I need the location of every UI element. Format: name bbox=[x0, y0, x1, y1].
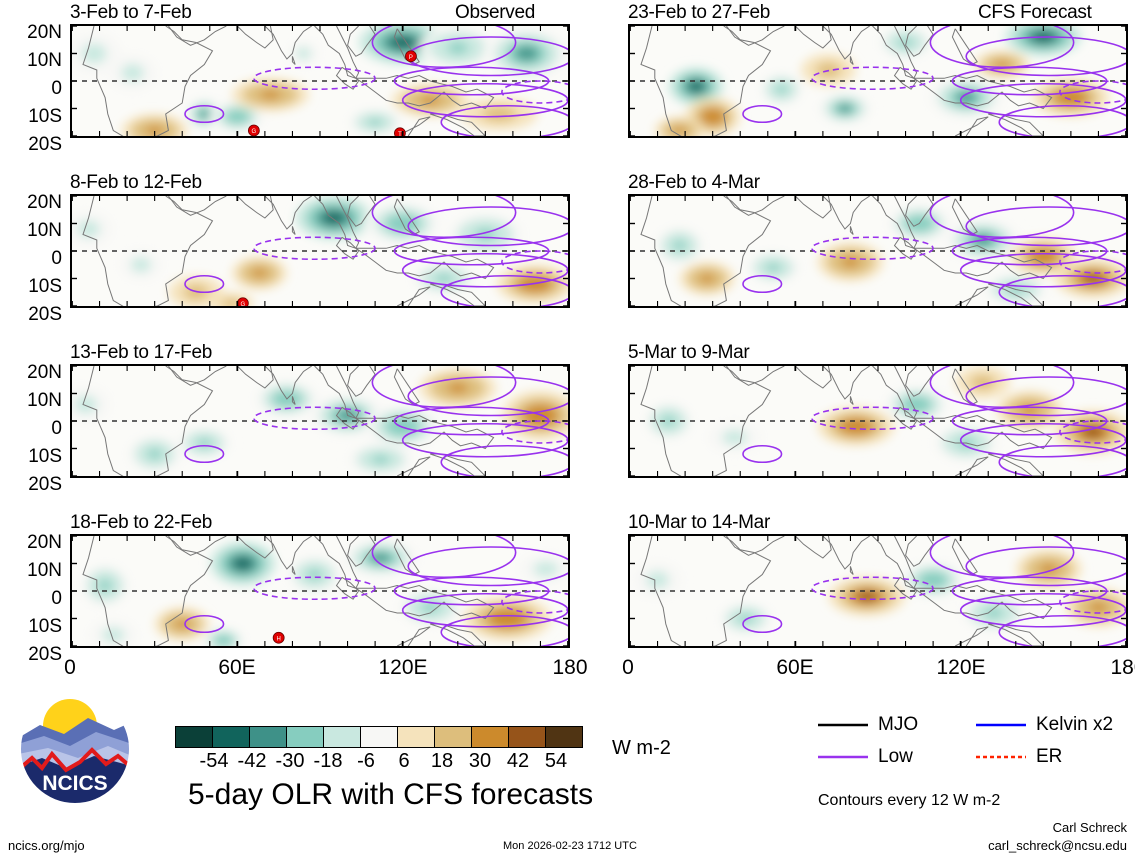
colorbar-swatch bbox=[397, 726, 435, 748]
colorbar-tick-labels: -54-42-30-18-6618304254 bbox=[176, 750, 594, 778]
colorbar-tick: 54 bbox=[545, 750, 567, 773]
colorbar-swatch bbox=[286, 726, 324, 748]
map-panel-fcst-4[interactable] bbox=[628, 534, 1128, 648]
map-canvas-fcst-2 bbox=[630, 196, 1126, 306]
legend-item-low: Low bbox=[816, 746, 956, 768]
y-tick-10N: 10N bbox=[0, 390, 62, 412]
colorbar-tick: 30 bbox=[469, 750, 491, 773]
map-canvas-fcst-1 bbox=[630, 26, 1126, 136]
colorbar-tick: -18 bbox=[314, 750, 343, 773]
legend-item-kelvin: Kelvin x2 bbox=[974, 714, 1113, 736]
olr-anomaly-blob bbox=[435, 274, 452, 283]
olr-anomaly-blob bbox=[218, 637, 229, 644]
map-panel-fcst-2[interactable] bbox=[628, 194, 1128, 308]
y-tick-20N: 20N bbox=[0, 362, 62, 384]
legend-line-mjo-icon bbox=[816, 719, 870, 731]
legend-label-low: Low bbox=[878, 746, 913, 768]
y-tick-10N: 10N bbox=[0, 50, 62, 72]
olr-anomaly-blob bbox=[260, 90, 280, 99]
ncics-logo: NCICS bbox=[18, 692, 132, 806]
x-tick-60E: 60E bbox=[776, 656, 813, 680]
logo-text: NCICS bbox=[42, 772, 107, 795]
olr-anomaly-blob bbox=[148, 449, 162, 459]
panel-title-obs-4: 18-Feb to 22-Feb bbox=[70, 512, 212, 534]
y-tick-20N: 20N bbox=[0, 22, 62, 44]
panel-title-fcst-4: 10-Mar to 14-Mar bbox=[628, 512, 770, 534]
olr-anomaly-blob bbox=[846, 421, 866, 431]
map-canvas-fcst-4 bbox=[630, 536, 1126, 646]
figure-main-title: 5-day OLR with CFS forecasts bbox=[188, 778, 593, 812]
colorbar-tick: 18 bbox=[431, 750, 453, 773]
panel-title-fcst-2: 28-Feb to 4-Mar bbox=[628, 172, 760, 194]
olr-anomaly-blob bbox=[1090, 602, 1107, 612]
footer-email[interactable]: carl_schreck@ncsu.edu bbox=[988, 838, 1127, 853]
olr-anomaly-blob bbox=[673, 240, 686, 250]
colorbar-swatches bbox=[176, 726, 594, 748]
svg-text:P: P bbox=[409, 55, 413, 61]
tropical-cyclone-symbol: G bbox=[237, 298, 248, 306]
olr-anomaly-blob bbox=[728, 433, 742, 442]
legend-line-low-icon bbox=[816, 751, 870, 763]
contour-interval-note: Contours every 12 W m-2 bbox=[818, 792, 1000, 810]
column-header-observed: Observed bbox=[455, 2, 535, 24]
map-panel-fcst-1[interactable] bbox=[628, 24, 1128, 138]
olr-anomaly-blob bbox=[651, 575, 664, 585]
y-tick-10N: 10N bbox=[0, 220, 62, 242]
x-tick-0: 0 bbox=[622, 656, 634, 680]
olr-anomaly-blob bbox=[324, 212, 344, 223]
y-tick-10S: 10S bbox=[0, 276, 62, 298]
map-canvas-obs-4: H bbox=[72, 536, 568, 646]
y-tick-0: 0 bbox=[0, 248, 62, 270]
olr-anomaly-blob bbox=[838, 104, 852, 113]
x-tick-120E: 120E bbox=[936, 656, 985, 680]
map-panel-obs-4[interactable]: H bbox=[70, 534, 570, 648]
footer-timestamp: Mon 2026-02-23 1712 UTC bbox=[503, 840, 637, 852]
olr-anomaly-blob bbox=[372, 455, 389, 464]
panel-title-obs-1: 3-Feb to 7-Feb bbox=[70, 2, 191, 24]
y-tick-20S: 20S bbox=[0, 644, 62, 666]
colorbar-swatch bbox=[212, 726, 250, 748]
olr-anomaly-blob bbox=[539, 565, 553, 574]
map-canvas-fcst-3 bbox=[630, 366, 1126, 476]
x-tick-60E: 60E bbox=[218, 656, 255, 680]
olr-anomaly-blob bbox=[126, 68, 139, 78]
olr-anomaly-blob bbox=[739, 614, 753, 623]
legend-label-mjo: MJO bbox=[878, 714, 918, 736]
footer-author: Carl Schreck bbox=[1053, 820, 1127, 835]
y-tick-20S: 20S bbox=[0, 474, 62, 496]
colorbar-tick: -54 bbox=[200, 750, 229, 773]
olr-anomaly-blob bbox=[776, 85, 787, 94]
olr-anomaly-blob bbox=[107, 631, 120, 640]
colorbar-swatch bbox=[508, 726, 546, 748]
y-tick-20S: 20S bbox=[0, 304, 62, 326]
y-tick-10N: 10N bbox=[0, 560, 62, 582]
olr-anomaly-blob bbox=[448, 383, 468, 393]
colorbar-swatch bbox=[545, 726, 583, 748]
olr-anomaly-blob bbox=[766, 263, 780, 272]
map-panel-obs-2[interactable]: G bbox=[70, 194, 570, 308]
legend-line-er-icon bbox=[974, 751, 1028, 763]
colorbar-tick: -6 bbox=[357, 750, 375, 773]
olr-anomaly-blob bbox=[199, 110, 209, 119]
olr-anomaly-blob bbox=[234, 558, 251, 569]
footer-website[interactable]: ncics.org/mjo bbox=[8, 838, 85, 853]
colorbar-swatch bbox=[249, 726, 287, 748]
column-header-cfs-forecast: CFS Forecast bbox=[978, 2, 1092, 24]
colorbar-tick: -42 bbox=[238, 750, 267, 773]
colorbar: -54-42-30-18-6618304254 bbox=[176, 726, 594, 778]
y-tick-0: 0 bbox=[0, 588, 62, 610]
svg-text:H: H bbox=[276, 636, 280, 642]
x-tick-180: 180 bbox=[552, 656, 587, 680]
colorbar-swatch bbox=[471, 726, 509, 748]
olr-anomaly-blob bbox=[230, 112, 244, 121]
olr-anomaly-blob bbox=[496, 613, 519, 624]
panel-title-fcst-1: 23-Feb to 27-Feb bbox=[628, 2, 770, 24]
tropical-cyclone-symbol: T bbox=[394, 128, 405, 136]
legend-item-er: ER bbox=[974, 746, 1062, 768]
olr-anomaly-blob bbox=[706, 112, 720, 122]
olr-anomaly-blob bbox=[135, 260, 146, 269]
olr-anomaly-blob bbox=[99, 580, 112, 591]
panel-title-obs-3: 13-Feb to 17-Feb bbox=[70, 342, 212, 364]
panel-title-obs-2: 8-Feb to 12-Feb bbox=[70, 172, 202, 194]
olr-anomaly-blob bbox=[299, 50, 308, 57]
map-panel-fcst-3[interactable] bbox=[628, 364, 1128, 478]
olr-anomaly-blob bbox=[689, 81, 703, 91]
map-canvas-obs-1: PGT bbox=[72, 26, 568, 136]
y-tick-20S: 20S bbox=[0, 134, 62, 156]
legend-label-kelvin: Kelvin x2 bbox=[1036, 714, 1113, 736]
map-panel-obs-3[interactable] bbox=[70, 364, 570, 478]
legend-item-mjo: MJO bbox=[816, 714, 956, 736]
colorbar-tick: -30 bbox=[276, 750, 305, 773]
colorbar-swatch bbox=[175, 726, 213, 748]
svg-text:T: T bbox=[398, 132, 402, 136]
y-tick-10S: 10S bbox=[0, 616, 62, 638]
colorbar-units: W m-2 bbox=[612, 737, 671, 760]
colorbar-tick: 42 bbox=[507, 750, 529, 773]
olr-anomaly-blob bbox=[448, 42, 468, 53]
colorbar-swatch bbox=[360, 726, 398, 748]
olr-anomaly-blob bbox=[87, 48, 101, 59]
y-tick-0: 0 bbox=[0, 78, 62, 100]
legend-line-kelvin-icon bbox=[974, 719, 1028, 731]
tropical-cyclone-symbol: P bbox=[405, 51, 416, 62]
olr-anomaly-blob bbox=[252, 269, 266, 278]
colorbar-swatch bbox=[323, 726, 361, 748]
map-panel-obs-1[interactable]: PGT bbox=[70, 24, 570, 138]
x-tick-180: 180 bbox=[1110, 656, 1135, 680]
olr-anomaly-blob bbox=[368, 119, 382, 126]
y-tick-20N: 20N bbox=[0, 532, 62, 554]
map-canvas-obs-3 bbox=[72, 366, 568, 476]
svg-text:G: G bbox=[252, 129, 257, 135]
tropical-cyclone-symbol: G bbox=[248, 125, 259, 136]
olr-anomaly-blob bbox=[700, 274, 714, 283]
contour-legend: MJO Kelvin x2 Low ER bbox=[816, 714, 1116, 768]
x-tick-120E: 120E bbox=[378, 656, 427, 680]
y-tick-10S: 10S bbox=[0, 446, 62, 468]
y-tick-0: 0 bbox=[0, 418, 62, 440]
olr-anomaly-blob bbox=[226, 300, 237, 306]
panel-title-fcst-3: 5-Mar to 9-Mar bbox=[628, 342, 749, 364]
colorbar-tick: 6 bbox=[398, 750, 409, 773]
y-tick-10S: 10S bbox=[0, 106, 62, 128]
map-canvas-obs-2: G bbox=[72, 196, 568, 306]
olr-anomaly-blob bbox=[79, 399, 92, 409]
legend-label-er: ER bbox=[1036, 746, 1062, 768]
colorbar-swatch bbox=[434, 726, 472, 748]
x-tick-0: 0 bbox=[64, 656, 76, 680]
olr-anomaly-blob bbox=[515, 46, 538, 60]
y-tick-20N: 20N bbox=[0, 192, 62, 214]
svg-text:G: G bbox=[241, 302, 246, 306]
tropical-cyclone-symbol: H bbox=[273, 632, 284, 643]
